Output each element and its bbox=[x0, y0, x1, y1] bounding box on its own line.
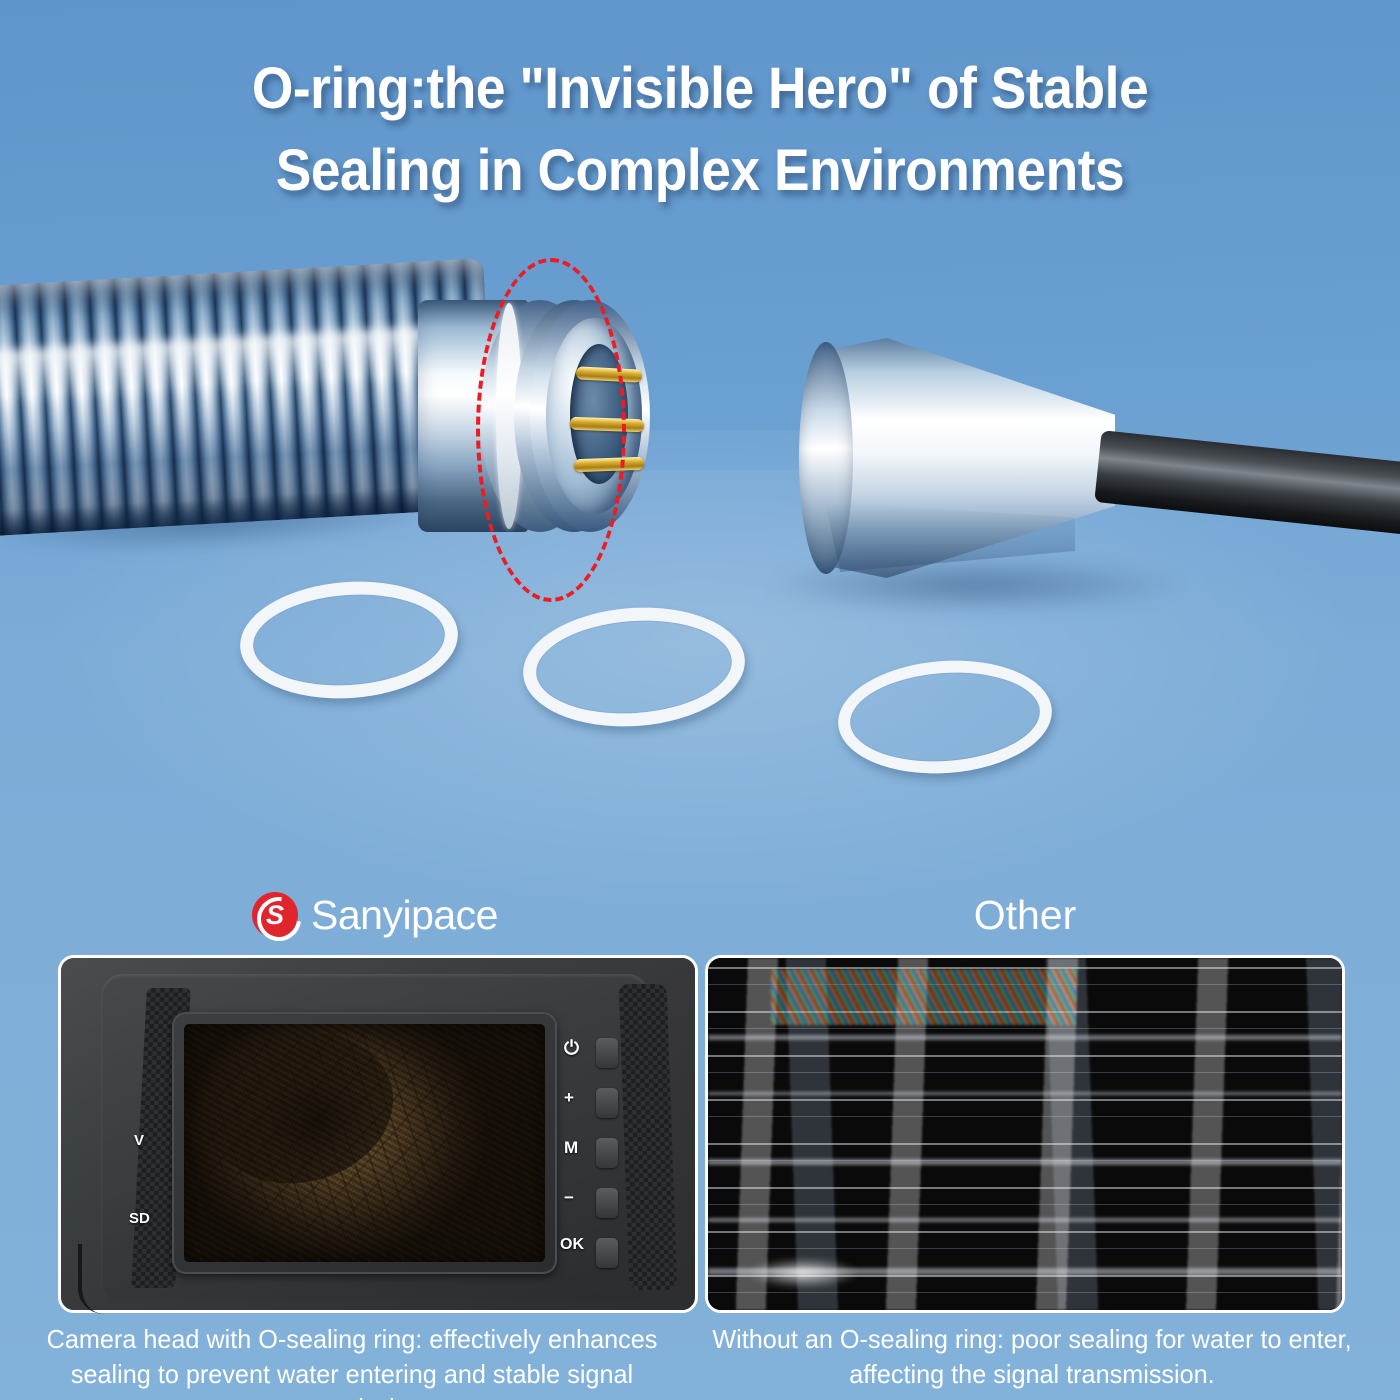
sanyipace-swirl-icon bbox=[252, 892, 298, 938]
brand-name: Sanyipace bbox=[311, 892, 498, 939]
power-icon[interactable]: ⏻ bbox=[564, 1038, 579, 1060]
noise-band-2 bbox=[708, 1092, 1342, 1095]
camera-head-connector bbox=[418, 292, 638, 542]
noise-band-1 bbox=[708, 1035, 1342, 1040]
monitor-screen-pipe-footage bbox=[184, 1024, 545, 1262]
page-title: O-ring:the "Invisible Hero" of Stable Se… bbox=[56, 48, 1344, 213]
page-title-line-2: Sealing in Complex Environments bbox=[56, 130, 1344, 212]
menu-button[interactable] bbox=[596, 1138, 618, 1168]
pipe-rust-texture bbox=[184, 1024, 545, 1262]
device-cord bbox=[78, 1244, 118, 1314]
plus-icon[interactable]: + bbox=[564, 1088, 574, 1108]
caption-without-oring: Without an O-sealing ring: poor sealing … bbox=[710, 1322, 1354, 1391]
poster-stage: O-ring:the "Invisible Hero" of Stable Se… bbox=[0, 0, 1400, 1400]
plus-button[interactable] bbox=[596, 1088, 618, 1118]
socket-shadow bbox=[760, 556, 1190, 614]
device-button-strip: ⏻ + M − OK bbox=[556, 1030, 618, 1274]
device-label-video: V bbox=[134, 1132, 144, 1149]
photo-panel-without-oring bbox=[705, 955, 1345, 1313]
device-label-sd: SD bbox=[129, 1210, 150, 1227]
ok-label[interactable]: OK bbox=[560, 1236, 584, 1254]
noise-band-3 bbox=[708, 1159, 1342, 1165]
gold-pin-2 bbox=[570, 417, 644, 433]
gold-pin-3 bbox=[574, 457, 644, 472]
carbon-strip-right bbox=[619, 984, 678, 1290]
ok-button[interactable] bbox=[596, 1238, 618, 1268]
signal-noise-screen bbox=[708, 958, 1342, 1310]
noise-highlight bbox=[746, 1257, 860, 1289]
power-button[interactable] bbox=[596, 1038, 618, 1068]
brand-logo: Sanyipace bbox=[55, 884, 695, 946]
cable-socket-head bbox=[795, 338, 1135, 588]
minus-icon[interactable]: − bbox=[564, 1188, 574, 1208]
menu-label[interactable]: M bbox=[564, 1138, 578, 1158]
caption-with-oring: Camera head with O-sealing ring: effecti… bbox=[30, 1322, 674, 1400]
page-title-line-1: O-ring:the "Invisible Hero" of Stable bbox=[56, 48, 1344, 130]
other-label: Other bbox=[705, 884, 1345, 946]
chromatic-artifact bbox=[771, 969, 1075, 1025]
comparison-labels: Sanyipace Other bbox=[0, 884, 1400, 946]
minus-button[interactable] bbox=[596, 1188, 618, 1218]
noise-band-4 bbox=[708, 1218, 1342, 1222]
